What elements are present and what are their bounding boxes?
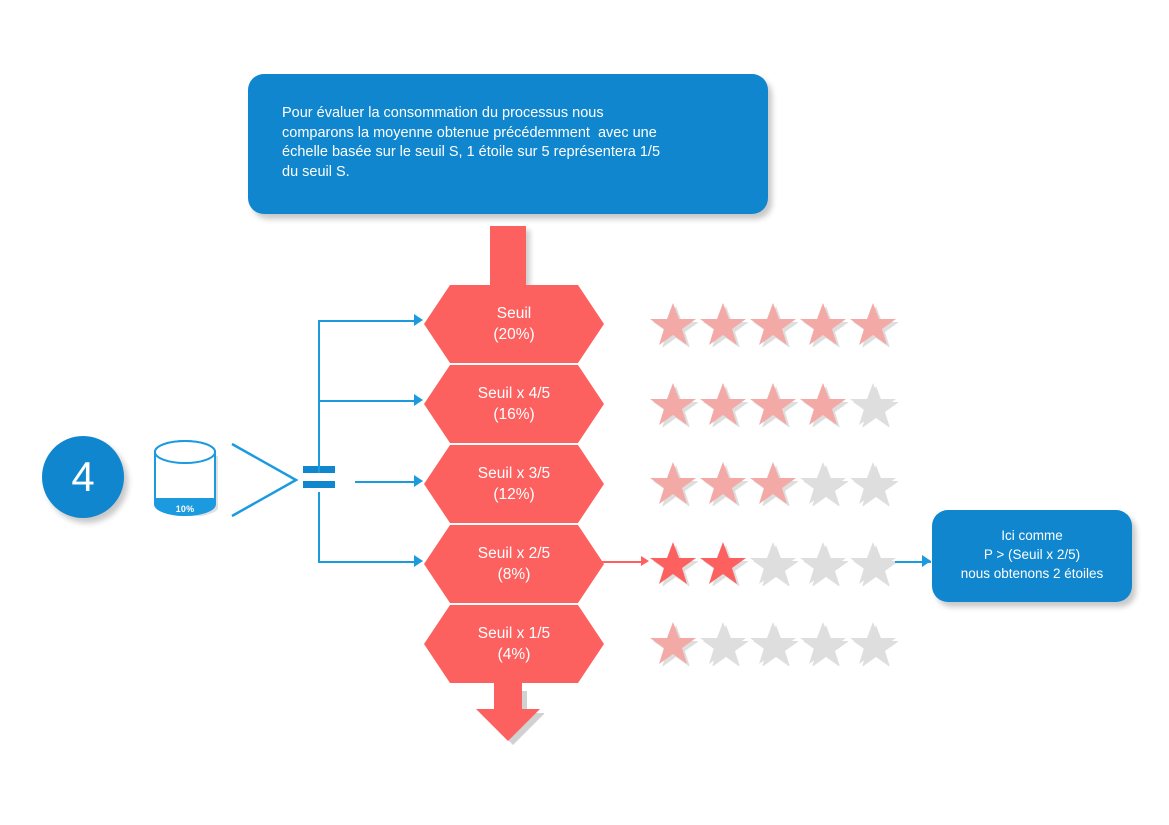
top-callout-line: comparons la moyenne obtenue précédemmen… [282,124,734,144]
greater-than-icon [230,440,300,520]
star-icon [648,536,698,586]
star-icon [848,377,898,427]
threshold-scale-stack: Seuil (20%) Seuil x 4/5 (16%) Seuil x 3/… [424,285,604,685]
hexagon-shape [424,445,604,523]
right-callout-line: Ici comme [940,526,1124,545]
connector-branch-1 [318,320,420,322]
equals-bar-bottom [303,481,335,488]
star-rating-row [648,377,898,427]
star-icon [698,377,748,427]
star-icon [798,297,848,347]
threshold-row[interactable]: Seuil x 2/5 (8%) [424,525,604,603]
star-icon [848,456,898,506]
star-icon [648,297,698,347]
star-rating-row-highlighted [648,536,898,586]
connector-arrowhead-2 [414,394,423,406]
connector-arrowhead-4 [414,555,423,567]
star-icon [698,456,748,506]
star-icon [698,616,748,666]
top-callout-line: du seuil S. [282,163,734,183]
star-rating-row [648,456,898,506]
connector-branch-4 [318,561,420,563]
star-icon [798,377,848,427]
top-callout-line: échelle basée sur le seuil S, 1 étoile s… [282,143,734,163]
star-rating-row [648,616,898,666]
threshold-row[interactable]: Seuil x 1/5 (4%) [424,605,604,683]
connector-arrowhead-1 [414,314,423,326]
connector-branch-2 [318,400,420,402]
threshold-row[interactable]: Seuil x 3/5 (12%) [424,445,604,523]
step-number-badge: 4 [42,436,124,518]
result-explanation-callout: Ici comme P > (Seuil x 2/5) nous obtenon… [932,510,1132,602]
connector-branch-3 [355,481,418,483]
star-icon [848,536,898,586]
top-explanation-callout: Pour évaluer la consommation du processu… [248,74,768,214]
star-icon [748,616,798,666]
hexagon-shape [424,605,604,683]
star-icon [748,297,798,347]
stars-to-callout-arrowhead [922,555,931,567]
flow-top-stub [490,226,526,288]
star-icon [748,456,798,506]
star-icon [748,536,798,586]
top-callout-line: Pour évaluer la consommation du processu… [282,104,734,124]
star-icon [698,297,748,347]
connector-trunk-upper [318,320,320,473]
star-icon [648,377,698,427]
star-rating-row [648,297,898,347]
hexagon-shape [424,365,604,443]
threshold-row[interactable]: Seuil x 4/5 (16%) [424,365,604,443]
connector-trunk-lower [318,492,320,562]
right-callout-line: nous obtenons 2 étoiles [940,564,1124,583]
hexagon-shape [424,285,604,363]
hexagon-shape [424,525,604,603]
database-cylinder-icon: 10% [152,440,218,516]
flow-bottom-arrow [472,683,544,745]
connector-arrowhead-3 [414,475,423,487]
star-icon [848,616,898,666]
star-icon [798,536,848,586]
hexagon-to-stars-line [600,561,644,563]
diagram-canvas: Pour évaluer la consommation du processu… [0,0,1169,825]
star-icon [648,616,698,666]
cylinder-value-label: 10% [152,504,218,514]
right-callout-line: P > (Seuil x 2/5) [940,545,1124,564]
star-icon [798,456,848,506]
star-icon [648,456,698,506]
star-icon [698,536,748,586]
star-icon [748,377,798,427]
star-icon [798,616,848,666]
threshold-row[interactable]: Seuil (20%) [424,285,604,363]
star-icon [848,297,898,347]
